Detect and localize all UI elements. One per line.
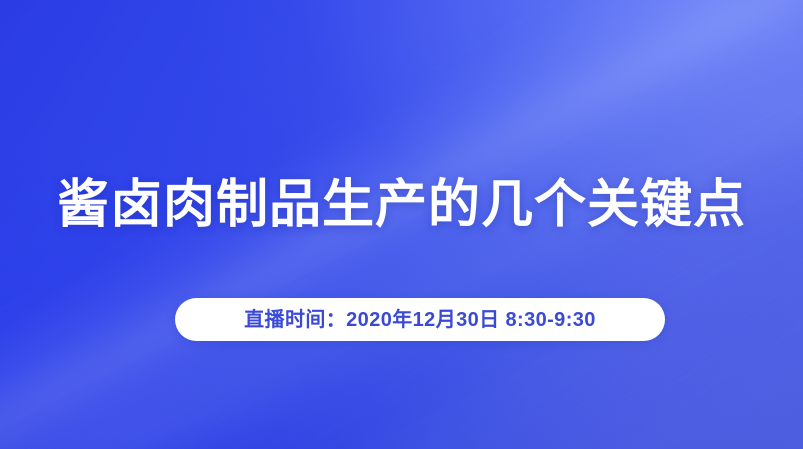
- banner-title: 酱卤肉制品生产的几个关键点: [0, 174, 803, 236]
- banner-content: 酱卤肉制品生产的几个关键点 直播时间：2020年12月30日 8:30-9:30: [0, 0, 803, 449]
- live-time-pill: 直播时间：2020年12月30日 8:30-9:30: [175, 298, 665, 341]
- live-event-banner: 酱卤肉制品生产的几个关键点 直播时间：2020年12月30日 8:30-9:30: [0, 0, 803, 449]
- live-time-label: 直播时间：2020年12月30日 8:30-9:30: [244, 310, 596, 330]
